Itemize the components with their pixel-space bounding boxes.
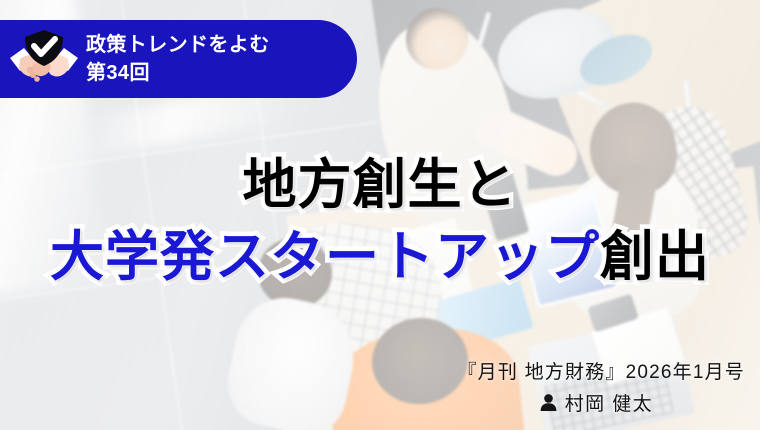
title-line-1: 地方創生と	[0, 150, 760, 222]
publication-issue: 『月刊 地方財務』2026年1月号	[457, 359, 745, 388]
series-badge-line2: 第34回	[86, 59, 270, 87]
title-line-1-text: 地方創生と	[243, 155, 518, 215]
series-badge-line1: 政策トレンドをよむ	[86, 31, 270, 59]
series-badge-text: 政策トレンドをよむ 第34回	[86, 31, 270, 88]
title-line-2: 大学発スタートアップ創出	[0, 222, 760, 294]
footer: 『月刊 地方財務』2026年1月号 村岡 健太	[457, 359, 745, 417]
handshake-shield-icon	[8, 28, 80, 90]
person-icon	[539, 393, 558, 412]
title-block: 地方創生と 大学発スタートアップ創出	[0, 150, 760, 294]
title-line-2-tail: 創出	[600, 227, 710, 287]
author-line: 村岡 健太	[457, 389, 745, 416]
title-line-2-highlight: 大学発スタートアップ	[50, 227, 600, 287]
thumbnail-canvas: 政策トレンドをよむ 第34回 地方創生と 大学発スタートアップ創出 『月刊 地方…	[0, 0, 760, 430]
series-badge: 政策トレンドをよむ 第34回	[0, 20, 357, 98]
author-name: 村岡 健太	[565, 389, 653, 416]
